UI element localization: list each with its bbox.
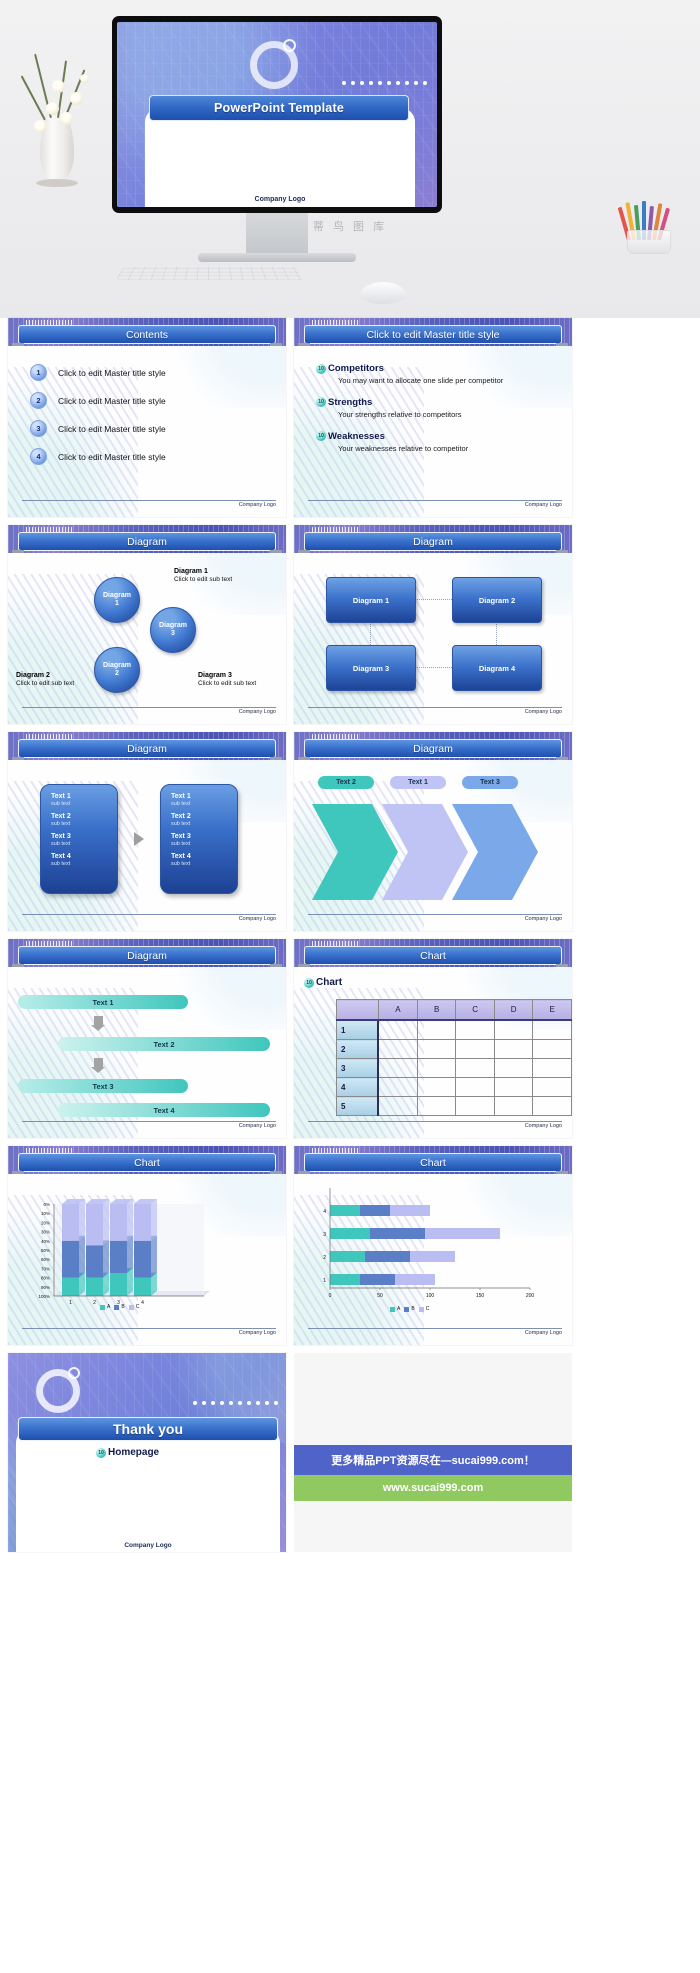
cell[interactable] (456, 1078, 495, 1097)
panel-row: Text 3sub text (171, 833, 237, 847)
slide-title-bar: Contents (18, 325, 276, 344)
header-tick-left (12, 343, 24, 346)
list-item[interactable]: 3 Click to edit Master title style (30, 420, 286, 437)
swot-body: You may want to allocate one slide per c… (338, 376, 518, 387)
cell[interactable] (417, 1078, 456, 1097)
table-row[interactable]: 2 (337, 1040, 572, 1059)
panel-sub: sub text (171, 861, 237, 867)
cup (627, 230, 671, 254)
cell[interactable] (533, 1059, 572, 1078)
cell[interactable] (378, 1020, 417, 1040)
diagram-callout-3: Diagram 3 Click to edit sub text (198, 671, 256, 689)
slide-chart-bar[interactable]: Chart 1234050100150200 A B C Company Log… (294, 1146, 572, 1345)
flow-pill-2[interactable]: Text 2 (58, 1037, 270, 1051)
slide-footer: Company Logo (22, 914, 276, 927)
list-item-label: Click to edit Master title style (58, 396, 166, 406)
homepage-label: Homepage (108, 1447, 159, 1458)
table-col-d: D (494, 1000, 533, 1021)
header-tick-right (270, 343, 282, 346)
svg-text:10%: 10% (41, 1211, 50, 1216)
slide-title: Diagram (127, 950, 167, 962)
keyboard (116, 267, 304, 281)
bullet-badge-icon: 10 (316, 364, 326, 374)
cell[interactable] (456, 1097, 495, 1116)
legend-entry-b: B (114, 1304, 124, 1310)
swot-body: Your strengths relative to competitors (338, 410, 518, 421)
list-item[interactable]: 1 Click to edit Master title style (30, 364, 286, 381)
swot-heading-row: 10 Weaknesses (316, 431, 572, 442)
small-circle-icon (283, 39, 296, 52)
header-tick-right (270, 550, 282, 553)
slide-diagram-chevrons[interactable]: Diagram Text 2 Text 1 Text 3 Company Log… (294, 732, 572, 931)
slide-title: Chart (420, 1157, 446, 1169)
diagram-circle-1[interactable]: Diagram1 (94, 577, 140, 623)
callout-sub: Click to edit sub text (16, 680, 74, 687)
slide-body: 1234050100150200 A B C (294, 1176, 572, 1327)
slide-header: Contents (8, 318, 286, 346)
chevron-1 (312, 804, 398, 900)
footer-label: Company Logo (239, 1330, 276, 1336)
cell[interactable] (456, 1059, 495, 1078)
slide-header: Diagram (8, 939, 286, 967)
header-tick-left (298, 343, 310, 346)
bullet-badge-icon: 10 (96, 1448, 106, 1458)
legend-label: A (397, 1306, 400, 1312)
dot-row-decoration (193, 1401, 278, 1405)
slide-title-bar: Diagram (18, 946, 276, 965)
small-circle-icon (68, 1367, 80, 1379)
hero-watermark: 蒂 鸟 图 库 (313, 218, 387, 234)
cell[interactable] (417, 1020, 456, 1040)
box-label: Diagram 2 (479, 596, 515, 605)
chart-subtitle: Chart (316, 977, 342, 988)
column-chart-canvas: 100%90%80%70%60%50%40%30%20%10%0%1234 (8, 1176, 286, 1326)
header-tick-left (12, 550, 24, 553)
header-tick-right (270, 1171, 282, 1174)
slide-footer: Company Logo (308, 500, 562, 513)
cell[interactable] (417, 1040, 456, 1059)
promo-line-2[interactable]: www.sucai999.com (294, 1475, 572, 1501)
cell[interactable] (417, 1097, 456, 1116)
header-tick-left (12, 757, 24, 760)
pill-label: Text 1 (408, 779, 428, 786)
pill-label: Text 4 (153, 1106, 174, 1115)
svg-text:2: 2 (323, 1255, 326, 1261)
footer-label: Company Logo (239, 502, 276, 508)
cell[interactable] (456, 1020, 495, 1040)
cell[interactable] (533, 1078, 572, 1097)
list-item[interactable]: 2 Click to edit Master title style (30, 392, 286, 409)
promo-panel: 更多精品PPT资源尽在—sucai999.com！ www.sucai999.c… (294, 1353, 572, 1552)
slide-row-3: Diagram Text 1sub text Text 2sub text Te… (0, 732, 700, 931)
slide-body: Diagram 1 Diagram 2 Diagram 3 Diagram 4 (294, 555, 572, 706)
slide-header: Click to edit Master title style (294, 318, 572, 346)
slide-thankyou[interactable]: Company Logo Thank you 10 Homepage (8, 1353, 286, 1552)
thankyou-company-logo: Company Logo (16, 1542, 280, 1550)
table-row[interactable]: 4 (337, 1078, 572, 1097)
slide-title: Contents (126, 329, 168, 341)
slide-title-bar: Diagram (304, 532, 562, 551)
bar-chart-svg: 1234050100150200 (294, 1176, 572, 1326)
slide-body: 10 Competitors You may want to allocate … (294, 348, 572, 499)
cell[interactable] (494, 1078, 533, 1097)
slide-contents[interactable]: Contents 1 Click to edit Master title st… (8, 318, 286, 517)
footer-label: Company Logo (525, 916, 562, 922)
cell[interactable] (417, 1059, 456, 1078)
flow-pill-4[interactable]: Text 4 (58, 1103, 270, 1117)
row-header: 2 (337, 1040, 379, 1059)
chevron-pill-3[interactable]: Text 3 (462, 776, 518, 789)
panel-main: Text 4 (171, 853, 237, 860)
header-tick-left (298, 550, 310, 553)
flower-bloom (70, 92, 83, 105)
panel-main: Text 3 (51, 833, 117, 840)
slide-title-bar: Click to edit Master title style (304, 325, 562, 344)
chevron-pill-1[interactable]: Text 2 (318, 776, 374, 789)
svg-text:2: 2 (93, 1300, 96, 1306)
bullet-badge-icon: 10 (316, 397, 326, 407)
panel-sub: sub text (51, 801, 117, 807)
cell[interactable] (533, 1020, 572, 1040)
pill-label: Text 3 (480, 779, 500, 786)
flow-pill-1[interactable]: Text 1 (18, 995, 188, 1009)
slide-footer: Company Logo (22, 1328, 276, 1341)
slide-footer: Company Logo (22, 500, 276, 513)
chart-subtitle-row: 10 Chart (304, 977, 572, 988)
svg-text:150: 150 (476, 1293, 485, 1299)
chevron-group (294, 794, 572, 924)
diagram-circle-3[interactable]: Diagram3 (150, 607, 196, 653)
slide-title: Click to edit Master title style (366, 329, 499, 341)
swot-heading-row: 10 Strengths (316, 397, 572, 408)
svg-text:40%: 40% (41, 1239, 50, 1244)
panel-main: Text 2 (51, 813, 117, 820)
slide-white-body: Company Logo (145, 108, 415, 207)
slide-body: 1 Click to edit Master title style 2 Cli… (8, 348, 286, 499)
flower-bloom (34, 120, 47, 133)
hero-title-bar: PowerPoint Template (149, 95, 409, 121)
pill-label: Text 1 (92, 998, 113, 1007)
box-label: Diagram 1 (353, 596, 389, 605)
slide-chart-table[interactable]: Chart 10 Chart A B C D E (294, 939, 572, 1138)
table-col-a: A (378, 1000, 417, 1021)
slide-title-bar: Diagram (304, 739, 562, 758)
bar-chart-canvas: 1234050100150200 (294, 1176, 572, 1326)
slide-body: Text 1 Text 2 Text 3 Text 4 (8, 969, 286, 1120)
slide-title: Diagram (413, 536, 453, 548)
ppt-template-preview-page: Company Logo PowerPoint Template 蒂 鸟 图 库 (0, 0, 700, 1552)
swot-list: 10 Competitors You may want to allocate … (294, 348, 572, 455)
footer-label: Company Logo (239, 1123, 276, 1129)
flower-bloom (46, 102, 59, 115)
panel-main: Text 2 (171, 813, 237, 820)
flower-bloom (80, 74, 89, 83)
swot-heading-row: 10 Competitors (316, 363, 572, 374)
legend-label: A (107, 1304, 110, 1310)
slide-title-bar: Diagram (18, 532, 276, 551)
slide-footer: Company Logo (308, 707, 562, 720)
circle-label: Diagram (103, 662, 131, 669)
circle-label: Diagram (159, 622, 187, 629)
legend-entry-c: C (419, 1306, 430, 1312)
box-label: Diagram 3 (353, 664, 389, 673)
panel-row: Text 4sub text (171, 853, 237, 867)
row-header: 4 (337, 1078, 379, 1097)
arrow-down-icon (94, 1058, 103, 1067)
legend-entry-c: C (129, 1304, 140, 1310)
svg-text:20%: 20% (41, 1220, 50, 1225)
pencil-cup (621, 206, 675, 254)
header-tick-left (12, 964, 24, 967)
flower-bloom (52, 80, 65, 93)
header-tick-right (556, 757, 568, 760)
slide-footer: Company Logo (22, 707, 276, 720)
cell[interactable] (494, 1059, 533, 1078)
chevron-pill-2[interactable]: Text 1 (390, 776, 446, 789)
list-item-label: Click to edit Master title style (58, 424, 166, 434)
legend-label: C (426, 1306, 430, 1312)
arrow-right-icon (134, 832, 144, 846)
callout-title: Diagram 1 (174, 567, 232, 576)
swot-heading: Strengths (328, 397, 372, 408)
svg-text:1: 1 (323, 1278, 326, 1284)
mouse (360, 282, 406, 304)
diagram-circle-2[interactable]: Diagram2 (94, 647, 140, 693)
column-chart-svg: 100%90%80%70%60%50%40%30%20%10%0%1234 (8, 1176, 286, 1326)
slide-row-4: Diagram Text 1 Text 2 Text 3 Text 4 Comp… (0, 939, 700, 1138)
legend-entry-a: A (100, 1304, 110, 1310)
arrow-down-icon (94, 1016, 103, 1025)
slide-body: Text 2 Text 1 Text 3 (294, 762, 572, 913)
footer-label: Company Logo (525, 1123, 562, 1129)
slide-title-bar: Chart (304, 946, 562, 965)
header-tick-left (298, 1171, 310, 1174)
cell[interactable] (456, 1040, 495, 1059)
slide-title: Chart (420, 950, 446, 962)
callout-title: Diagram 2 (16, 671, 74, 680)
diagram-box-3[interactable]: Diagram 3 (326, 645, 416, 691)
header-tick-left (298, 757, 310, 760)
svg-text:50: 50 (377, 1293, 383, 1299)
svg-text:1: 1 (69, 1300, 72, 1306)
slide-row-6: Company Logo Thank you 10 Homepage 更多精品P… (0, 1353, 700, 1552)
thankyou-title-bar: Thank you (18, 1417, 278, 1441)
footer-label: Company Logo (525, 502, 562, 508)
header-tick-right (270, 757, 282, 760)
svg-text:70%: 70% (41, 1266, 50, 1271)
panel-row: Text 2sub text (51, 813, 117, 827)
svg-text:90%: 90% (41, 1285, 50, 1290)
table-row[interactable]: 3 (337, 1059, 572, 1078)
circle-label: Diagram (103, 592, 131, 599)
diagram-box-2[interactable]: Diagram 2 (452, 577, 542, 623)
pill-label: Text 2 (336, 779, 356, 786)
diagram-box-4[interactable]: Diagram 4 (452, 645, 542, 691)
legend-label: B (121, 1304, 124, 1310)
panel-row: Text 2sub text (171, 813, 237, 827)
chart-legend: A B C (100, 1304, 139, 1310)
panel-row: Text 1sub text (171, 793, 237, 807)
diagram-panel-right[interactable]: Text 1sub text Text 2sub text Text 3sub … (160, 784, 238, 894)
swot-body: Your weaknesses relative to competitor (338, 444, 518, 455)
cell[interactable] (494, 1097, 533, 1116)
diagram-panel-left[interactable]: Text 1sub text Text 2sub text Text 3sub … (40, 784, 118, 894)
panel-row: Text 1sub text (51, 793, 117, 807)
slide-title: Diagram (413, 743, 453, 755)
slide-body: 100%90%80%70%60%50%40%30%20%10%0%1234 A … (8, 1176, 286, 1327)
circle-number: 3 (171, 630, 175, 637)
header-tick-left (298, 964, 310, 967)
cell[interactable] (378, 1040, 417, 1059)
panel-row: Text 3sub text (51, 833, 117, 847)
bullet-badge-icon: 10 (304, 978, 314, 988)
slide-body: Text 1sub text Text 2sub text Text 3sub … (8, 762, 286, 913)
slide-header: Diagram (8, 525, 286, 553)
legend-entry-a: A (390, 1306, 400, 1312)
row-header: 1 (337, 1020, 379, 1040)
svg-text:50%: 50% (41, 1248, 50, 1253)
promo-text-2: www.sucai999.com (383, 1482, 483, 1494)
svg-text:80%: 80% (41, 1276, 50, 1281)
svg-text:4: 4 (141, 1300, 144, 1306)
footer-label: Company Logo (525, 709, 562, 715)
slide-row-2: Diagram Diagram1 Diagram3 Diagram2 Diagr… (0, 525, 700, 724)
slide-header: Diagram (294, 732, 572, 760)
svg-text:0: 0 (329, 1293, 332, 1299)
table-row[interactable]: 1 (337, 1020, 572, 1040)
chart-legend: A B C (390, 1306, 429, 1312)
cell[interactable] (378, 1059, 417, 1078)
promo-text-1: 更多精品PPT资源尽在—sucai999.com！ (331, 1452, 535, 1468)
panel-sub: sub text (51, 841, 117, 847)
panel-sub: sub text (51, 861, 117, 867)
cell[interactable] (494, 1020, 533, 1040)
list-item-label: Click to edit Master title style (58, 368, 166, 378)
list-number-badge: 2 (30, 392, 47, 409)
panel-main: Text 4 (51, 853, 117, 860)
cell[interactable] (533, 1097, 572, 1116)
callout-sub: Click to edit sub text (174, 576, 232, 583)
svg-text:100: 100 (426, 1293, 435, 1299)
callout-title: Diagram 3 (198, 671, 256, 680)
promo-line-1[interactable]: 更多精品PPT资源尽在—sucai999.com！ (294, 1445, 572, 1475)
slide-title: Diagram (127, 743, 167, 755)
table-row[interactable]: 5 (337, 1097, 572, 1116)
svg-text:30%: 30% (41, 1230, 50, 1235)
row-header: 5 (337, 1097, 379, 1116)
footer-label: Company Logo (525, 1330, 562, 1336)
slide-diagram-circles[interactable]: Diagram Diagram1 Diagram3 Diagram2 Diagr… (8, 525, 286, 724)
circle-number: 2 (115, 670, 119, 677)
svg-text:100%: 100% (38, 1294, 50, 1299)
callout-sub: Click to edit sub text (198, 680, 256, 687)
legend-label: B (411, 1306, 414, 1312)
slide-header: Diagram (294, 525, 572, 553)
cell[interactable] (494, 1040, 533, 1059)
slide-chart-column[interactable]: Chart 100%90%80%70%60%50%40%30%20%10%0%1… (8, 1146, 286, 1345)
panel-sub: sub text (171, 821, 237, 827)
pill-label: Text 2 (153, 1040, 174, 1049)
list-item[interactable]: 4 Click to edit Master title style (30, 448, 286, 465)
slide-title-bar: Diagram (18, 739, 276, 758)
panel-main: Text 1 (171, 793, 237, 800)
circle-number: 1 (115, 600, 119, 607)
hero-company-logo: Company Logo (145, 196, 415, 205)
cell[interactable] (378, 1078, 417, 1097)
slide-header: Chart (294, 1146, 572, 1174)
box-label: Diagram 4 (479, 664, 515, 673)
swot-heading: Weaknesses (328, 431, 385, 442)
svg-text:4: 4 (323, 1209, 326, 1215)
footer-label: Company Logo (239, 916, 276, 922)
header-tick-right (270, 964, 282, 967)
slide-header: Chart (8, 1146, 286, 1174)
svg-text:0%: 0% (43, 1202, 50, 1207)
hero-title-text: PowerPoint Template (214, 101, 344, 115)
row-header: 3 (337, 1059, 379, 1078)
list-number-badge: 1 (30, 364, 47, 381)
monitor-screen: Company Logo PowerPoint Template (117, 22, 437, 207)
bullet-badge-icon: 10 (316, 431, 326, 441)
table-col-c: C (456, 1000, 495, 1021)
cell[interactable] (378, 1097, 417, 1116)
table-col-e: E (533, 1000, 572, 1021)
legend-entry-b: B (404, 1306, 414, 1312)
list-item-label: Click to edit Master title style (58, 452, 166, 462)
header-tick-right (556, 964, 568, 967)
slide-row-1: Contents 1 Click to edit Master title st… (0, 318, 700, 517)
list-number-badge: 3 (30, 420, 47, 437)
swot-heading: Competitors (328, 363, 384, 374)
slide-header: Chart (294, 939, 572, 967)
slide-footer: Company Logo (308, 1121, 562, 1134)
flow-pill-3[interactable]: Text 3 (18, 1079, 188, 1093)
header-tick-right (556, 1171, 568, 1174)
table-col-b: B (417, 1000, 456, 1021)
slide-diagram-panels[interactable]: Diagram Text 1sub text Text 2sub text Te… (8, 732, 286, 931)
svg-text:3: 3 (323, 1232, 326, 1238)
thankyou-title: Thank you (113, 1421, 183, 1437)
dot-row-decoration (342, 81, 427, 85)
slide-diagram-pills[interactable]: Diagram Text 1 Text 2 Text 3 Text 4 Comp… (8, 939, 286, 1138)
slide-diagram-boxes[interactable]: Diagram Diagram 1 Diagram 2 Diagram 3 Di… (294, 525, 572, 724)
slide-title: Diagram (127, 536, 167, 548)
homepage-row[interactable]: 10 Homepage (96, 1447, 159, 1458)
monitor-base (198, 253, 356, 262)
header-tick-right (556, 343, 568, 346)
svg-text:200: 200 (526, 1293, 535, 1299)
hero-mockup: Company Logo PowerPoint Template 蒂 鸟 图 库 (0, 0, 700, 318)
chart-data-table[interactable]: A B C D E 1 2 3 4 5 (336, 999, 572, 1116)
svg-text:60%: 60% (41, 1257, 50, 1262)
cell[interactable] (533, 1040, 572, 1059)
slide-swot[interactable]: Click to edit Master title style 10 Comp… (294, 318, 572, 517)
footer-label: Company Logo (239, 709, 276, 715)
slide-body: Diagram1 Diagram3 Diagram2 Diagram 1 Cli… (8, 555, 286, 706)
slide-body: 10 Chart A B C D E 1 2 3 4 (294, 969, 572, 1120)
slide-footer: Company Logo (308, 914, 562, 927)
legend-label: C (136, 1304, 140, 1310)
monitor-neck (246, 213, 308, 257)
table-corner-cell (337, 1000, 379, 1021)
diagram-callout-1: Diagram 1 Click to edit sub text (174, 567, 232, 585)
slide-row-5: Chart 100%90%80%70%60%50%40%30%20%10%0%1… (0, 1146, 700, 1345)
panel-sub: sub text (171, 841, 237, 847)
diagram-box-1[interactable]: Diagram 1 (326, 577, 416, 623)
panel-sub: sub text (51, 821, 117, 827)
slide-title: Chart (134, 1157, 160, 1169)
panel-main: Text 3 (171, 833, 237, 840)
